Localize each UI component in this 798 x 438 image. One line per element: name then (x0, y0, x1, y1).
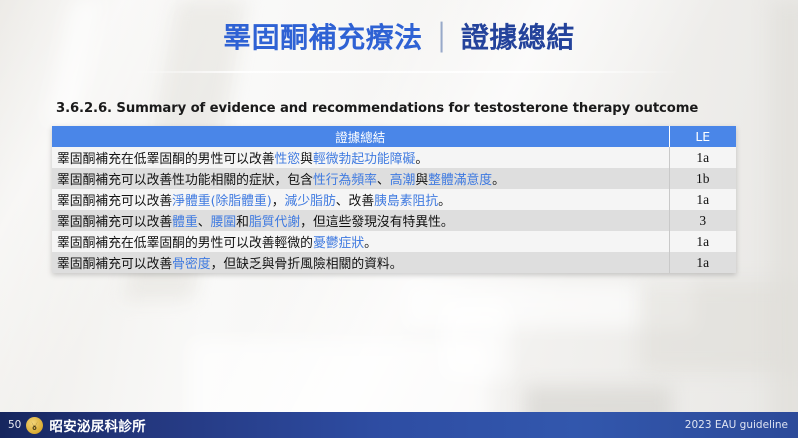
statement-text: 、改善 (336, 194, 374, 209)
highlighted-term: 胰島素阻抗 (374, 194, 438, 209)
table-row: 睪固酮補充可以改善體重、腰圍和脂質代謝，但這些發現沒有特異性。3 (52, 210, 736, 231)
bg-shape (440, 300, 510, 380)
level-of-evidence-cell: 1a (669, 231, 736, 252)
highlighted-term: 脂質代謝 (249, 215, 300, 230)
highlighted-term: 性行為頻率 (313, 173, 377, 188)
evidence-statement-cell: 睪固酮補充可以改善體重、腰圍和脂質代謝，但這些發現沒有特異性。 (52, 210, 669, 231)
statement-text: 。 (364, 236, 377, 251)
level-of-evidence-cell: 1a (669, 252, 736, 273)
clinic-logo-icon (26, 417, 43, 434)
slide-title: 睪固酮補充療法│證據總結 (0, 24, 798, 52)
statement-text: ，但缺乏與骨折風險相關的資料。 (211, 257, 403, 272)
table-body: 睪固酮補充在低睪固酮的男性可以改善性慾與輕微勃起功能障礙。1a睪固酮補充可以改善… (52, 147, 736, 273)
highlighted-term: 淨體重(除脂體重) (172, 194, 272, 209)
table-row: 睪固酮補充可以改善淨體重(除脂體重)，減少脂肪、改善胰島素阻抗。1a (52, 189, 736, 210)
title-main-text: 睪固酮補充療法 (223, 21, 423, 54)
highlighted-term: 減少脂肪 (285, 194, 336, 209)
statement-text: ， (272, 194, 285, 209)
table-row: 睪固酮補充在低睪固酮的男性可以改善性慾與輕微勃起功能障礙。1a (52, 147, 736, 168)
column-header-summary: 證據總結 (52, 126, 669, 147)
evidence-table-container: 證據總結 LE 睪固酮補充在低睪固酮的男性可以改善性慾與輕微勃起功能障礙。1a睪… (52, 126, 736, 273)
highlighted-term: 體重 (172, 215, 198, 230)
statement-text: 。 (415, 152, 428, 167)
slide-canvas: 睪固酮補充療法│證據總結 3.6.2.6. Summary of evidenc… (0, 0, 798, 438)
statement-text: 、 (198, 215, 211, 230)
evidence-table: 證據總結 LE 睪固酮補充在低睪固酮的男性可以改善性慾與輕微勃起功能障礙。1a睪… (52, 126, 736, 273)
statement-text: 。 (492, 173, 505, 188)
table-row: 睪固酮補充在低睪固酮的男性可以改善輕微的憂鬱症狀。1a (52, 231, 736, 252)
clinic-name: 昭安泌尿科診所 (49, 415, 146, 435)
page-number: 50 (8, 419, 21, 431)
statement-text: 睪固酮補充可以改善 (57, 215, 172, 230)
highlighted-term: 腰圍 (211, 215, 237, 230)
evidence-statement-cell: 睪固酮補充可以改善淨體重(除脂體重)，減少脂肪、改善胰島素阻抗。 (52, 189, 669, 210)
statement-text: 與 (300, 152, 313, 167)
highlighted-term: 整體滿意度 (428, 173, 492, 188)
title-underline-rule (128, 71, 680, 73)
evidence-statement-cell: 睪固酮補充可以改善性功能相關的症狀，包含性行為頻率、高潮與整體滿意度。 (52, 168, 669, 189)
level-of-evidence-cell: 3 (669, 210, 736, 231)
statement-text: 和 (236, 215, 249, 230)
statement-text: 、 (377, 173, 390, 188)
statement-text: ，但這些發現沒有特異性。 (300, 215, 454, 230)
section-subtitle: 3.6.2.6. Summary of evidence and recomme… (56, 101, 698, 116)
table-head: 證據總結 LE (52, 126, 736, 147)
highlighted-term: 高潮 (390, 173, 416, 188)
statement-text: 睪固酮補充可以改善性功能相關的症狀，包含 (57, 173, 313, 188)
highlighted-term: 骨密度 (172, 257, 210, 272)
statement-text: 睪固酮補充在低睪固酮的男性可以改善輕微的 (57, 236, 313, 251)
highlighted-term: 憂鬱症狀 (313, 236, 364, 251)
statement-text: 睪固酮補充可以改善 (57, 194, 172, 209)
level-of-evidence-cell: 1b (669, 168, 736, 189)
footer-source: 2023 EAU guideline (685, 419, 788, 431)
table-header-row: 證據總結 LE (52, 126, 736, 147)
statement-text: 。 (438, 194, 451, 209)
highlighted-term: 輕微勃起功能障礙 (313, 152, 415, 167)
evidence-statement-cell: 睪固酮補充在低睪固酮的男性可以改善性慾與輕微勃起功能障礙。 (52, 147, 669, 168)
bg-shape (770, 0, 798, 438)
statement-text: 與 (415, 173, 428, 188)
column-header-le: LE (669, 126, 736, 147)
statement-text: 睪固酮補充在低睪固酮的男性可以改善 (57, 152, 275, 167)
level-of-evidence-cell: 1a (669, 189, 736, 210)
evidence-statement-cell: 睪固酮補充在低睪固酮的男性可以改善輕微的憂鬱症狀。 (52, 231, 669, 252)
title-sub-text: 證據總結 (461, 21, 575, 54)
highlighted-term: 性慾 (275, 152, 301, 167)
level-of-evidence-cell: 1a (669, 147, 736, 168)
evidence-statement-cell: 睪固酮補充可以改善骨密度，但缺乏與骨折風險相關的資料。 (52, 252, 669, 273)
title-divider: │ (434, 23, 450, 53)
slide-footer: 50 昭安泌尿科診所 2023 EAU guideline (0, 412, 798, 438)
table-row: 睪固酮補充可以改善性功能相關的症狀，包含性行為頻率、高潮與整體滿意度。1b (52, 168, 736, 189)
table-row: 睪固酮補充可以改善骨密度，但缺乏與骨折風險相關的資料。1a (52, 252, 736, 273)
statement-text: 睪固酮補充可以改善 (57, 257, 172, 272)
